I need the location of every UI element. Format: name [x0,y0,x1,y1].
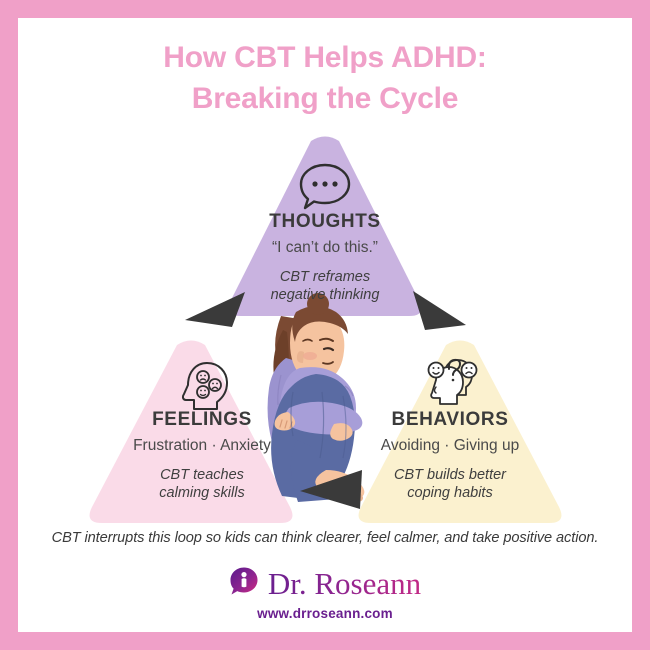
node-thoughts[interactable]: THOUGHTS “I can’t do this.” CBT reframes… [225,212,425,305]
node-thoughts-quote: “I can’t do this.” [225,238,425,259]
brand-logo-row: Dr. Roseann [229,566,421,601]
node-thoughts-cbt-line-1: CBT reframes [225,268,425,287]
speech-bubble-ellipsis-icon [296,162,354,217]
node-thoughts-cbt-line-2: negative thinking [225,286,425,305]
node-feelings-quote: Frustration · Anxiety [97,436,307,457]
node-feelings-cbt-line-1: CBT teaches [97,466,307,485]
brand-name: Dr. Roseann [268,568,421,599]
node-behaviors-quote: Avoiding · Giving up [345,436,555,457]
infographic-canvas: How CBT Helps ADHD: Breaking the Cycle [0,0,650,650]
node-feelings[interactable]: FEELINGS Frustration · Anxiety CBT teach… [97,410,307,503]
node-feelings-cbt-line-2: calming skills [97,484,307,503]
node-behaviors-label: BEHAVIORS [345,410,555,431]
cycle-diagram [0,0,650,650]
node-behaviors-cbt-line-1: CBT builds better [345,466,555,485]
speech-bubble-logo-icon [229,566,259,601]
summary-caption: CBT interrupts this loop so kids can thi… [0,530,650,546]
brand-url[interactable]: www.drroseann.com [0,606,650,621]
node-behaviors-cbt-line-2: coping habits [345,484,555,503]
two-heads-question-icon [421,354,483,415]
node-behaviors[interactable]: BEHAVIORS Avoiding · Giving up CBT build… [345,410,555,503]
node-thoughts-cbt-note: CBT reframes negative thinking [225,268,425,305]
node-feelings-cbt-note: CBT teaches calming skills [97,466,307,503]
node-feelings-label: FEELINGS [97,410,307,431]
node-behaviors-cbt-note: CBT builds better coping habits [345,466,555,503]
brand-logo[interactable]: Dr. Roseann www.drroseann.com [0,566,650,621]
node-thoughts-label: THOUGHTS [225,212,425,233]
